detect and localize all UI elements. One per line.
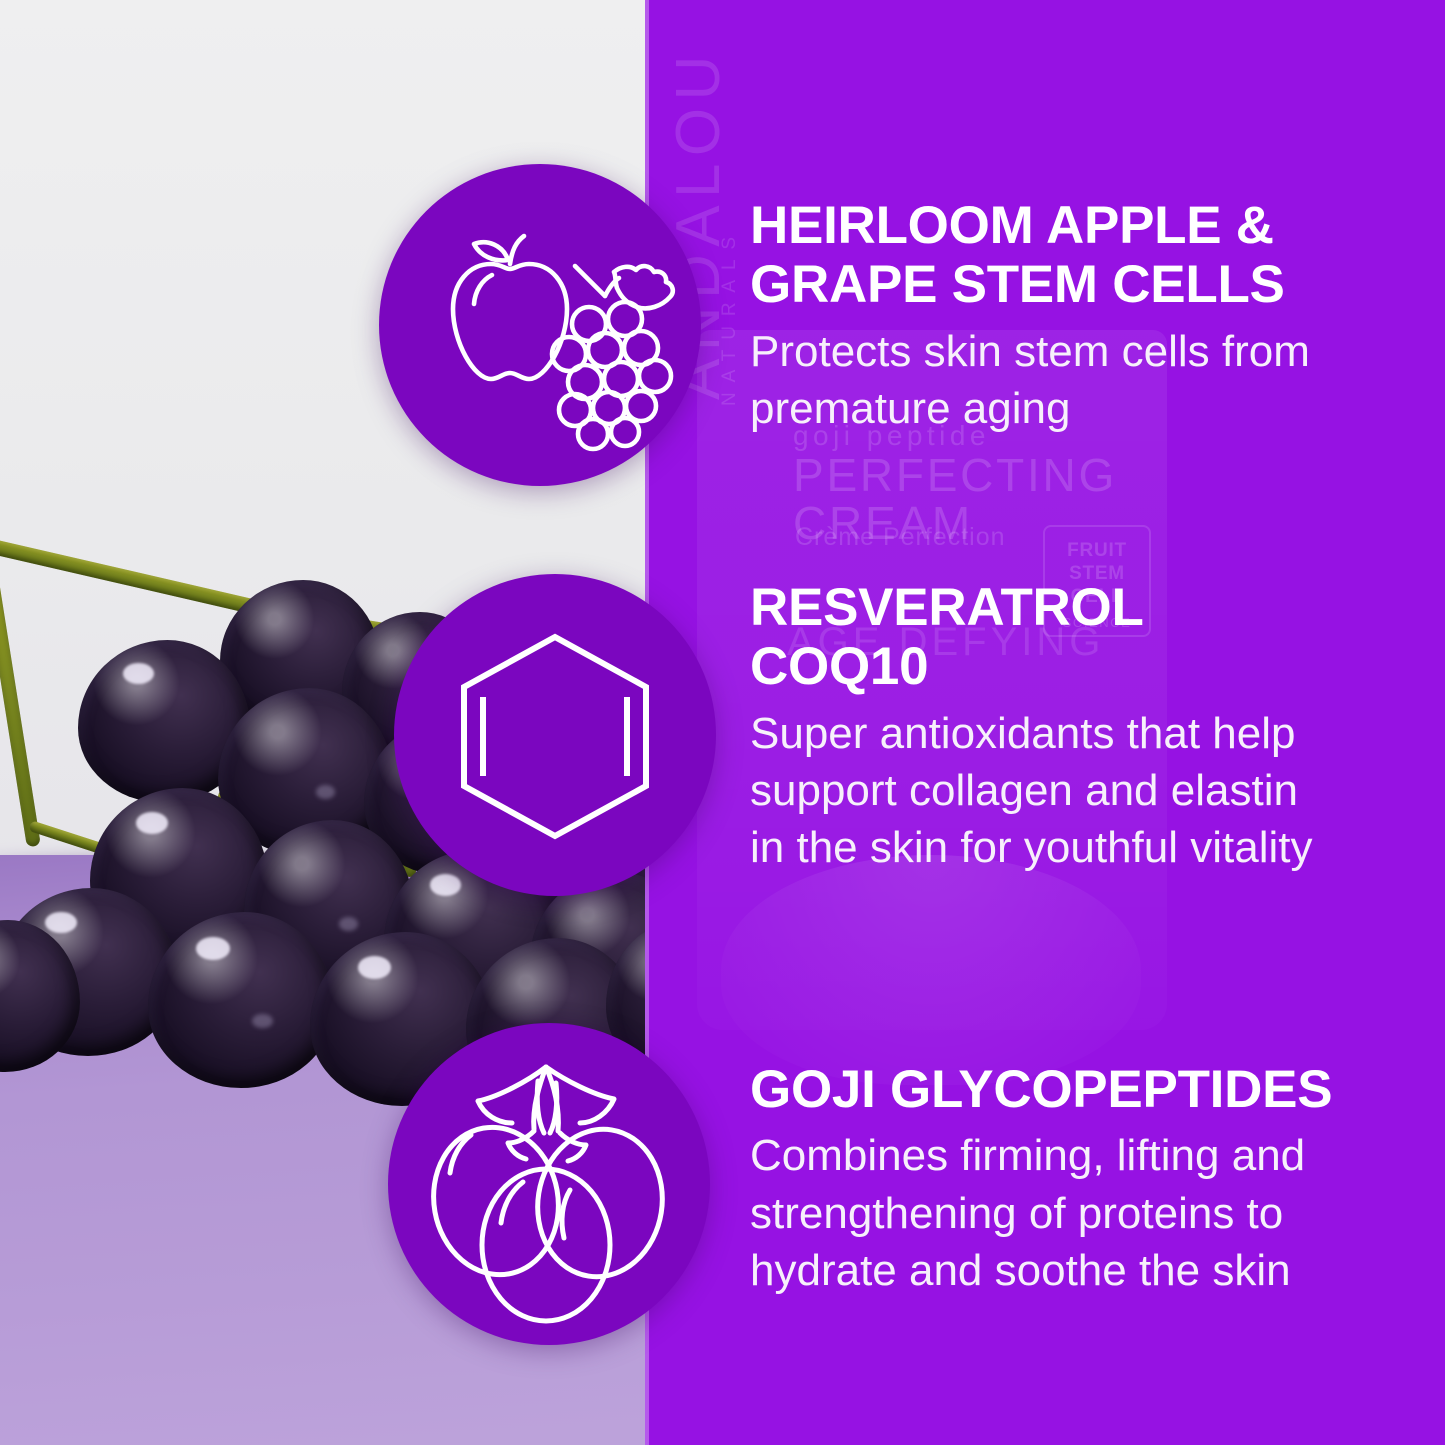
ghost-product-title-1: PERFECTING	[793, 448, 1117, 502]
goji-berries-icon	[388, 1023, 710, 1345]
hexagon-molecule-icon	[394, 574, 716, 896]
ghost-product-subtitle: Crème Perfection	[795, 523, 1006, 552]
feature-text-2: RESVERATROL COQ10 Super antioxidants tha…	[750, 578, 1330, 876]
feature-body-2: Super antioxidants that help support col…	[750, 705, 1330, 877]
feature-body-1: Protects skin stem cells from premature …	[750, 323, 1390, 437]
feature-icon-circle-1	[379, 164, 701, 486]
ghost-badge-line-1: FRUIT	[1045, 539, 1149, 562]
feature-text-3: GOJI GLYCOPEPTIDES Combines firming, lif…	[750, 1060, 1410, 1299]
feature-text-1: HEIRLOOM APPLE & GRAPE STEM CELLS Protec…	[750, 196, 1390, 437]
feature-icon-circle-2	[394, 574, 716, 896]
feature-title-1: HEIRLOOM APPLE & GRAPE STEM CELLS	[750, 196, 1390, 315]
feature-title-3: GOJI GLYCOPEPTIDES	[750, 1060, 1410, 1119]
ghost-brand-subname: NATURALS	[719, 227, 741, 406]
feature-body-3: Combines firming, lifting and strengthen…	[750, 1127, 1410, 1299]
product-benefits-infographic: ANDALOU NATURALS goji peptide PERFECTING…	[0, 0, 1445, 1445]
feature-icon-circle-3	[388, 1023, 710, 1345]
apple-grape-icon	[379, 164, 701, 486]
feature-title-2: RESVERATROL COQ10	[750, 578, 1330, 697]
ghost-product-jar-lid	[721, 855, 1141, 1085]
